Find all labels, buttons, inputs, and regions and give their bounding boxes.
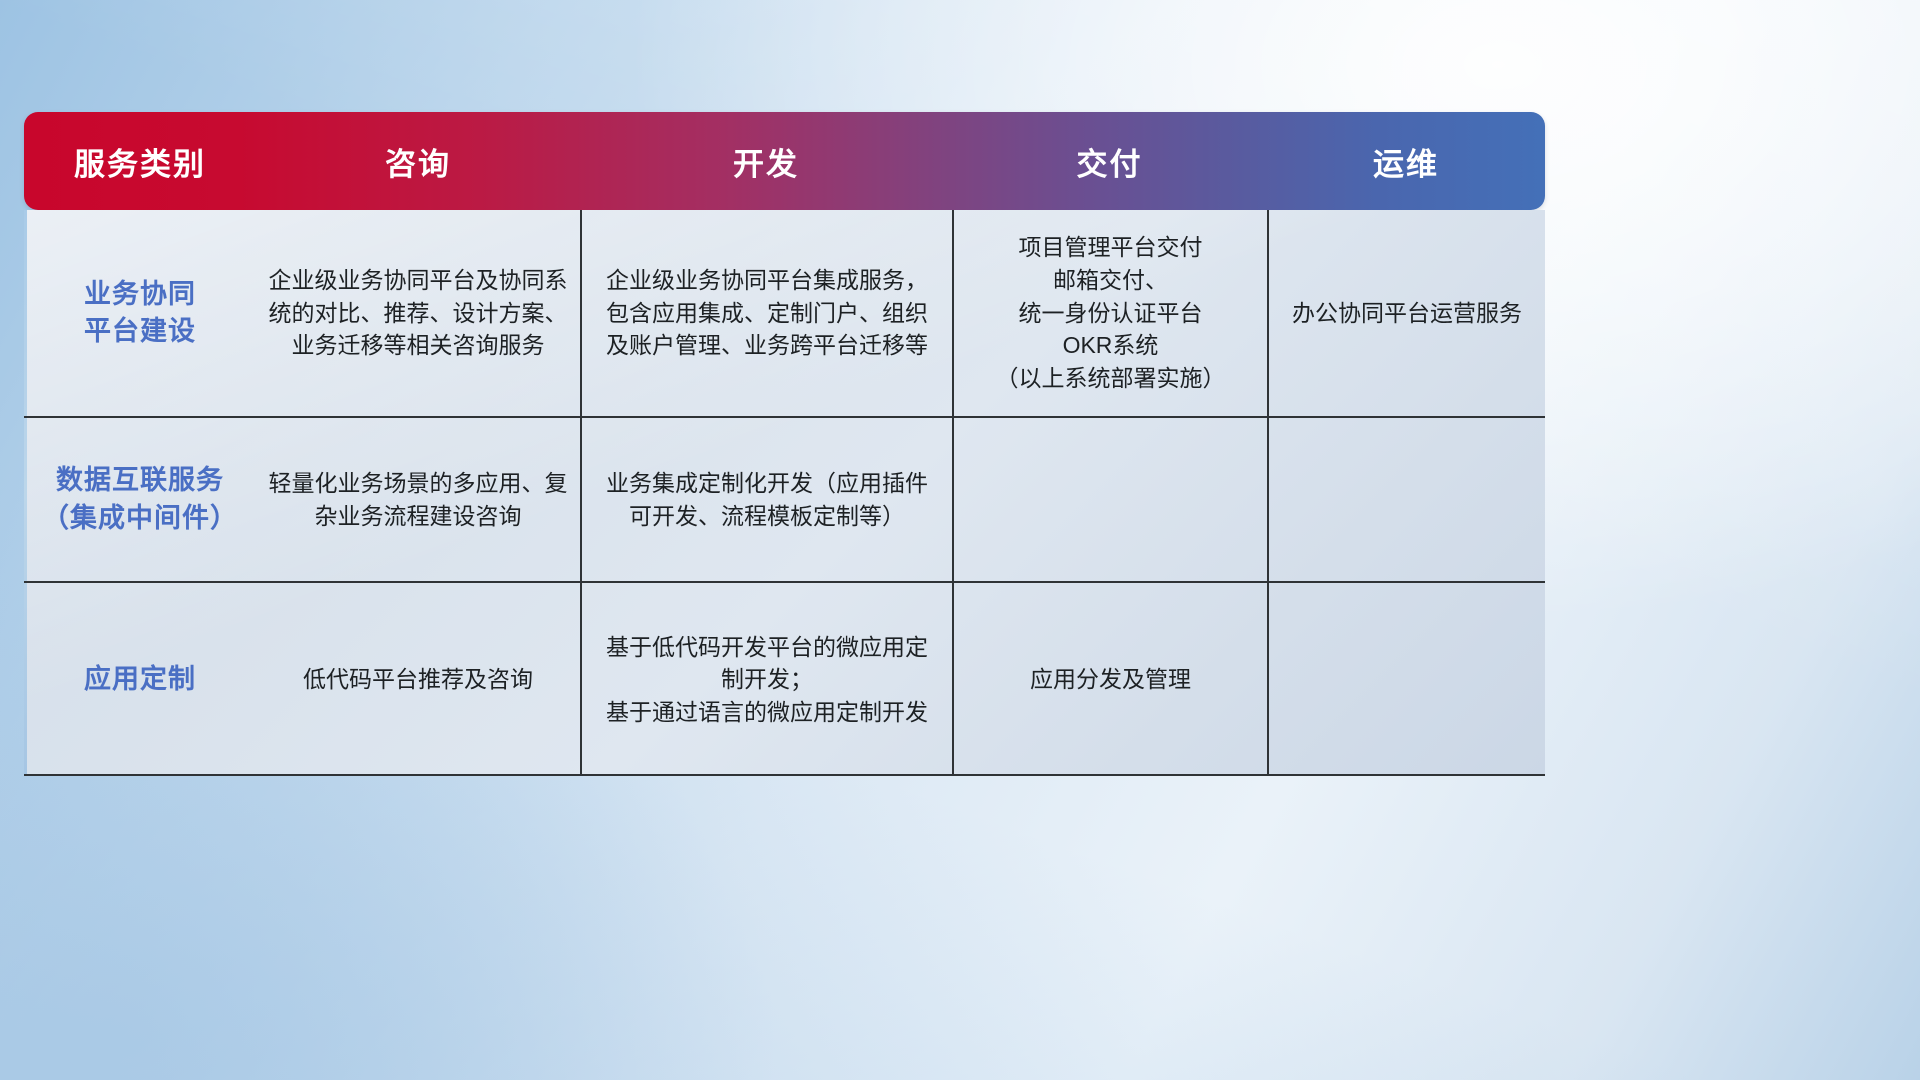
row-category-label: 应用定制 [24,583,256,776]
cell-text: 企业级业务协同平台集成服务， 包含应用集成、定制门户、组织 及账户管理、业务跨平… [606,264,928,362]
table-row: 数据互联服务 （集成中间件） 轻量化业务场景的多应用、复 杂业务流程建设咨询 业… [24,418,1545,583]
page-background: 服务类别 咨询 开发 交付 运维 业务协同 平台建设 企业级业务协同平台及协同系… [0,0,1920,1080]
column-header-delivery: 交付 [952,139,1267,184]
category-text: 数据互联服务 （集成中间件） [42,462,238,537]
category-text: 业务协同 平台建设 [84,276,196,351]
cell-delivery: 应用分发及管理 [952,583,1267,776]
row-category-label: 业务协同 平台建设 [24,210,256,416]
cell-text: 应用分发及管理 [1030,663,1191,696]
cell-text: 企业级业务协同平台及协同系 统的对比、推荐、设计方案、 业务迁移等相关咨询服务 [269,264,568,362]
cell-development: 业务集成定制化开发（应用插件 可开发、流程模板定制等） [580,418,952,581]
table-row: 业务协同 平台建设 企业级业务协同平台及协同系 统的对比、推荐、设计方案、 业务… [24,210,1545,418]
cell-text: 轻量化业务场景的多应用、复 杂业务流程建设咨询 [269,467,568,532]
cell-consulting: 企业级业务协同平台及协同系 统的对比、推荐、设计方案、 业务迁移等相关咨询服务 [256,210,580,416]
table-header-row: 服务类别 咨询 开发 交付 运维 [24,112,1545,210]
cell-operations: 办公协同平台运营服务 [1267,210,1545,416]
cell-text: 业务集成定制化开发（应用插件 可开发、流程模板定制等） [606,467,928,532]
table-row: 应用定制 低代码平台推荐及咨询 基于低代码开发平台的微应用定 制开发； 基于通过… [24,583,1545,776]
cell-operations [1267,418,1545,581]
cell-operations [1267,583,1545,776]
table-body: 业务协同 平台建设 企业级业务协同平台及协同系 统的对比、推荐、设计方案、 业务… [24,210,1545,776]
column-header-development: 开发 [580,139,952,184]
cell-text: 办公协同平台运营服务 [1292,297,1522,330]
column-header-consulting: 咨询 [256,139,580,184]
cell-text: 低代码平台推荐及咨询 [303,663,533,696]
cell-delivery: 项目管理平台交付 邮箱交付、 统一身份认证平台 OKR系统 （以上系统部署实施） [952,210,1267,416]
cell-text: 项目管理平台交付 邮箱交付、 统一身份认证平台 OKR系统 （以上系统部署实施） [996,231,1226,394]
cell-consulting: 轻量化业务场景的多应用、复 杂业务流程建设咨询 [256,418,580,581]
row-category-label: 数据互联服务 （集成中间件） [24,418,256,581]
category-text: 应用定制 [84,661,196,698]
column-header-operations: 运维 [1267,139,1545,184]
cell-text: 基于低代码开发平台的微应用定 制开发； 基于通过语言的微应用定制开发 [606,631,928,729]
cell-development: 企业级业务协同平台集成服务， 包含应用集成、定制门户、组织 及账户管理、业务跨平… [580,210,952,416]
cell-delivery [952,418,1267,581]
service-matrix-table: 服务类别 咨询 开发 交付 运维 业务协同 平台建设 企业级业务协同平台及协同系… [24,112,1545,776]
column-header-service-category: 服务类别 [24,139,256,184]
cell-consulting: 低代码平台推荐及咨询 [256,583,580,776]
cell-development: 基于低代码开发平台的微应用定 制开发； 基于通过语言的微应用定制开发 [580,583,952,776]
